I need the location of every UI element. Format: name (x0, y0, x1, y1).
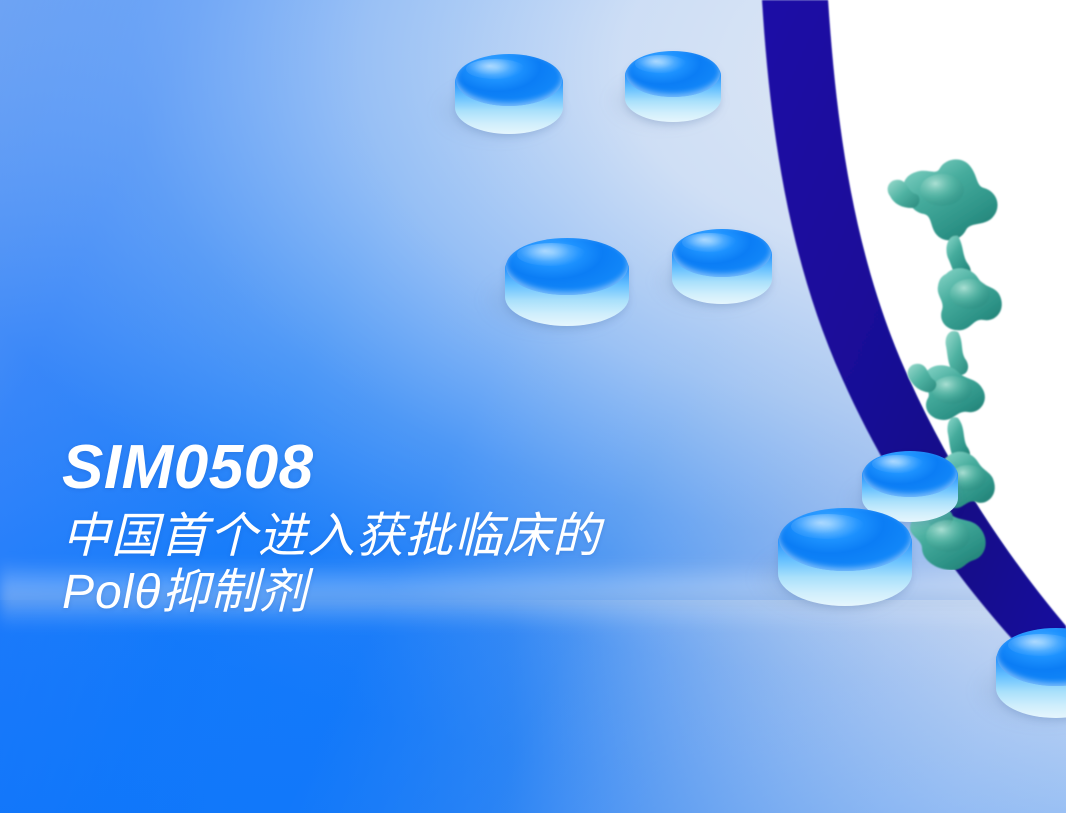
pill-bottom-corner (996, 630, 1066, 718)
poster-canvas: SIM0508 中国首个进入获批临床的 Polθ抑制剂 (0, 0, 1066, 813)
pill-gloss (517, 243, 585, 265)
pill-gloss (791, 514, 865, 539)
pill-top-right (625, 52, 721, 122)
subtitle-line-2: Polθ抑制剂 (62, 565, 822, 621)
subtitle-line-1: 中国首个进入获批临床的 (62, 509, 822, 565)
page-subtitle: 中国首个进入获批临床的 Polθ抑制剂 (62, 509, 822, 620)
pill-gloss (872, 455, 925, 473)
pill-mid-right (672, 230, 772, 304)
pill-front-center (778, 510, 912, 606)
pill-gloss (635, 55, 688, 73)
pill-mid-left (505, 240, 629, 326)
page-title: SIM0508 (62, 436, 822, 499)
pill-top-left (455, 56, 563, 134)
pill-gloss (682, 233, 737, 252)
title-block: SIM0508 中国首个进入获批临床的 Polθ抑制剂 (62, 436, 822, 621)
